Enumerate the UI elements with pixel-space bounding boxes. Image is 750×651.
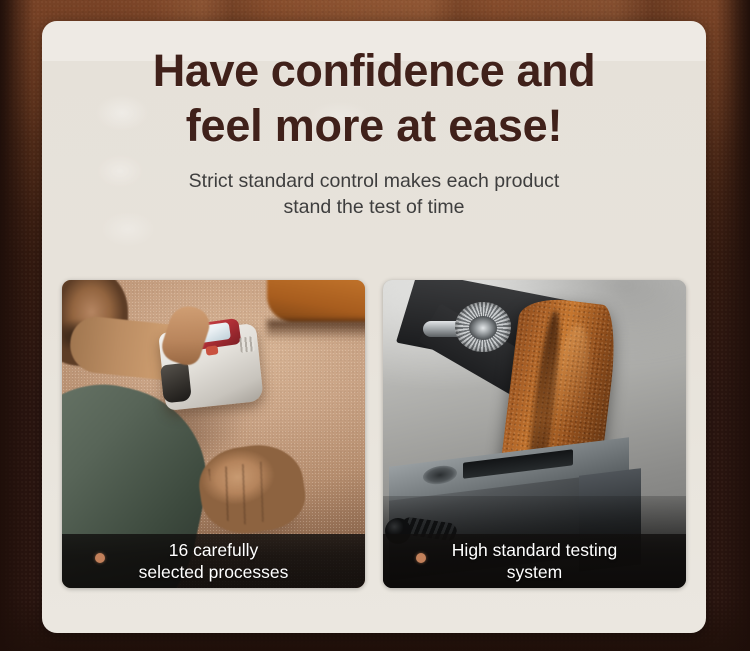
testing-card-caption-text: High standard testing system	[383, 539, 686, 583]
colorimeter-device-button	[205, 345, 218, 356]
process-card-caption: 16 carefully selected processes	[62, 534, 365, 588]
process-photo-orange-cushion	[267, 280, 365, 322]
bullet-dot-icon	[95, 553, 105, 563]
page-subtitle-line-1: Strict standard control makes each produ…	[94, 168, 654, 194]
page-title: Have confidence and feel more at ease!	[64, 21, 684, 153]
page-subtitle: Strict standard control makes each produ…	[94, 168, 654, 220]
bullet-dot-icon	[416, 553, 426, 563]
content-panel: Have confidence and feel more at ease! S…	[42, 21, 706, 633]
feature-card-testing[interactable]: High standard testing system	[383, 280, 686, 588]
colorimeter-device-vent	[239, 336, 254, 352]
colorimeter-device-aperture	[160, 363, 192, 404]
page-subtitle-line-2: stand the test of time	[94, 194, 654, 220]
process-caption-line-2: selected processes	[68, 561, 359, 583]
process-caption-line-1: 16 carefully	[68, 539, 359, 561]
process-card-caption-text: 16 carefully selected processes	[62, 539, 365, 583]
feature-card-row: 16 carefully selected processes	[62, 280, 686, 588]
page-title-line-2: feel more at ease!	[64, 98, 684, 153]
testing-card-caption: High standard testing system	[383, 534, 686, 588]
process-photo-cushion-shadow	[267, 320, 365, 340]
testing-caption-line-1: High standard testing	[389, 539, 680, 561]
feature-card-process[interactable]: 16 carefully selected processes	[62, 280, 365, 588]
testing-machine-knob-hub	[469, 316, 497, 340]
page-title-line-1: Have confidence and	[64, 43, 684, 98]
testing-caption-line-2: system	[389, 561, 680, 583]
